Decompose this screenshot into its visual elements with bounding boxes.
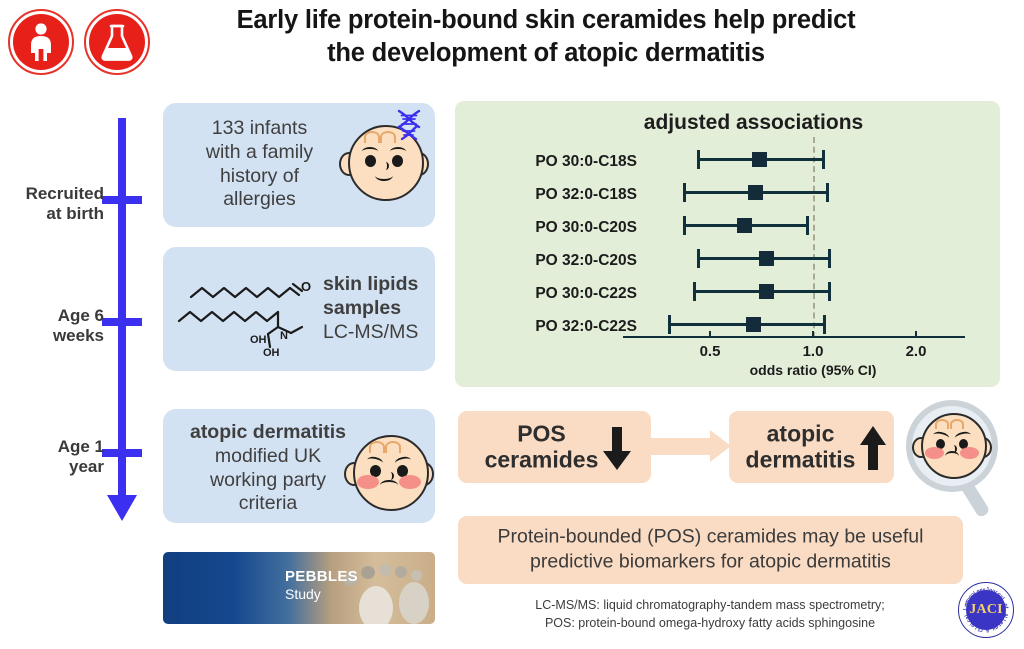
dna-helix-icon (392, 108, 426, 142)
forest-row-label: PO 30:0-C22S (477, 285, 637, 303)
forest-ci-cap-low (668, 315, 671, 334)
step-outcome-line2: modified UK (173, 445, 363, 469)
flask-badge (84, 9, 150, 75)
forest-ci-cap-low (697, 150, 700, 169)
forest-row-label: PO 32:0-C18S (477, 186, 637, 204)
conclusion-line2: predictive biomarkers for atopic dermati… (458, 550, 963, 575)
pebble-shape (361, 566, 375, 579)
pebbles-label: PEBBLES Study (285, 568, 358, 603)
forest-ci-cap-low (697, 249, 700, 268)
x-axis-tick-label: 0.5 (685, 343, 735, 360)
forest-point-marker (752, 152, 767, 167)
conclusion-line1: Protein-bounded (POS) ceramides may be u… (458, 525, 963, 550)
flow-connector-bar (651, 438, 713, 455)
step-outcome-line3: working party (173, 469, 363, 493)
timeline-label-1year-line2: year (0, 457, 104, 477)
forest-ci-cap-high (823, 315, 826, 334)
timeline-label-6weeks-line1: Age 6 (0, 306, 104, 326)
forest-ci-cap-high (806, 216, 809, 235)
timeline-arrow-icon (107, 495, 137, 521)
forest-row-label: PO 30:0-C20S (477, 219, 637, 237)
timeline-label-1year-line1: Age 1 (0, 437, 104, 457)
flow-box-atopic-dermatitis: atopic dermatitis (729, 411, 894, 483)
forest-point-marker (748, 185, 763, 200)
pebble-shape (379, 564, 392, 576)
title-line-2: the development of atopic dermatitis (172, 37, 920, 70)
step-recruitment-text: 133 infants with a family history of all… (177, 117, 342, 212)
footnote: LC-MS/MS: liquid chromatography-tandem m… (470, 596, 950, 632)
forest-ci-cap-high (826, 183, 829, 202)
person-badge (8, 9, 74, 75)
jaci-journal-seal: Journal of Allergy & Clinical Immunology… (958, 582, 1014, 638)
flow-pos-line2: ceramides (458, 447, 625, 473)
x-axis-line (623, 336, 965, 338)
sad-baby-face-icon (353, 435, 425, 507)
forest-ci-cap-high (828, 249, 831, 268)
step-box-sampling: O N OH OH skin lipids samples LC-MS/MS (163, 247, 435, 371)
title-line-1: Early life protein-bound skin ceramides … (172, 4, 920, 37)
page-title: Early life protein-bound skin ceramides … (172, 4, 920, 69)
flask-icon (89, 14, 145, 70)
forest-row-label: PO 30:0-C18S (477, 153, 637, 171)
reference-line-or1 (813, 137, 815, 338)
forest-ci-cap-high (822, 150, 825, 169)
x-axis-title: odds ratio (95% CI) (663, 362, 963, 378)
timeline-label-birth: Recruited at birth (0, 184, 104, 224)
footnote-line1: LC-MS/MS: liquid chromatography-tandem m… (470, 596, 950, 614)
conclusion-text: Protein-bounded (POS) ceramides may be u… (458, 525, 963, 576)
svg-text:N: N (280, 330, 288, 342)
svg-text:O: O (301, 279, 311, 294)
up-arrow-icon (859, 425, 887, 471)
forest-point-marker (759, 284, 774, 299)
svg-text:OH: OH (250, 334, 267, 346)
flow-box-pos-ceramides: POS ceramides (458, 411, 651, 483)
jaci-seal-disc: JACI (966, 590, 1006, 630)
flow-ad-line2: dermatitis (729, 447, 872, 473)
forest-ci-cap-low (693, 282, 696, 301)
timeline-label-6weeks: Age 6 weeks (0, 306, 104, 346)
timeline-label-birth-line1: Recruited (0, 184, 104, 204)
step-recruitment-line1: 133 infants (177, 117, 342, 141)
pebble-shape (411, 570, 422, 581)
timeline-label-1year: Age 1 year (0, 437, 104, 477)
step-sampling-line1: skin lipids (323, 273, 431, 297)
forest-row-label: PO 32:0-C20S (477, 252, 637, 270)
step-sampling-line3: LC-MS/MS (323, 321, 431, 345)
pebbles-study-banner: PEBBLES Study (163, 552, 435, 624)
forest-plot-panel: adjusted associations PO 30:0-C18S PO 32… (455, 101, 1000, 387)
pebble-shape (359, 586, 393, 624)
x-axis-tick (812, 331, 814, 337)
timeline-label-birth-line2: at birth (0, 204, 104, 224)
timeline-label-6weeks-line2: weeks (0, 326, 104, 346)
forest-row-label: PO 32:0-C22S (477, 318, 637, 336)
forest-point-marker (759, 251, 774, 266)
x-axis-tick-label: 1.0 (788, 343, 838, 360)
forest-ci-cap-high (828, 282, 831, 301)
x-axis-tick (915, 331, 917, 337)
forest-ci-cap-low (683, 183, 686, 202)
sad-baby-face-icon (921, 413, 983, 475)
forest-point-marker (746, 317, 761, 332)
step-sampling-text: skin lipids samples LC-MS/MS (323, 273, 431, 344)
person-icon (13, 14, 69, 70)
down-arrow-icon (602, 427, 632, 471)
footnote-line2: POS: protein-bound omega-hydroxy fatty a… (470, 614, 950, 632)
step-recruitment-line3: history of (177, 165, 342, 189)
pebbles-name: PEBBLES (285, 568, 358, 586)
timeline-axis (118, 118, 126, 498)
flow-ad-line1: atopic (729, 421, 872, 447)
pebble-shape (395, 566, 407, 578)
svg-text:OH: OH (263, 347, 280, 357)
flow-pos-line1: POS (458, 421, 625, 447)
timeline-tick-birth (102, 196, 142, 204)
step-sampling-line2: samples (323, 297, 431, 321)
forest-ci-cap-low (683, 216, 686, 235)
chart-title: adjusted associations (455, 111, 1000, 135)
magnifier-lens (906, 400, 998, 492)
x-axis-tick (709, 331, 711, 337)
timeline-tick-1year (102, 449, 142, 457)
timeline-tick-6weeks (102, 318, 142, 326)
pebble-shape (399, 582, 429, 624)
step-recruitment-line4: allergies (177, 188, 342, 212)
step-outcome-line4: criteria (173, 492, 363, 516)
forest-point-marker (737, 218, 752, 233)
magnifier-icon (900, 400, 1004, 520)
jaci-seal-label: JACI (969, 602, 1002, 618)
conclusion-box: Protein-bounded (POS) ceramides may be u… (458, 516, 963, 584)
pebbles-subtitle: Study (285, 586, 358, 603)
step-outcome-line1: atopic dermatitis (173, 421, 363, 445)
ceramide-structure-icon: O N OH OH (171, 271, 321, 357)
step-outcome-text: atopic dermatitis modified UK working pa… (173, 421, 363, 516)
step-box-outcome: atopic dermatitis modified UK working pa… (163, 409, 435, 523)
right-arrow-icon (710, 430, 731, 462)
step-recruitment-line2: with a family (177, 141, 342, 165)
journal-badges (8, 6, 168, 78)
x-axis-tick-label: 2.0 (891, 343, 941, 360)
